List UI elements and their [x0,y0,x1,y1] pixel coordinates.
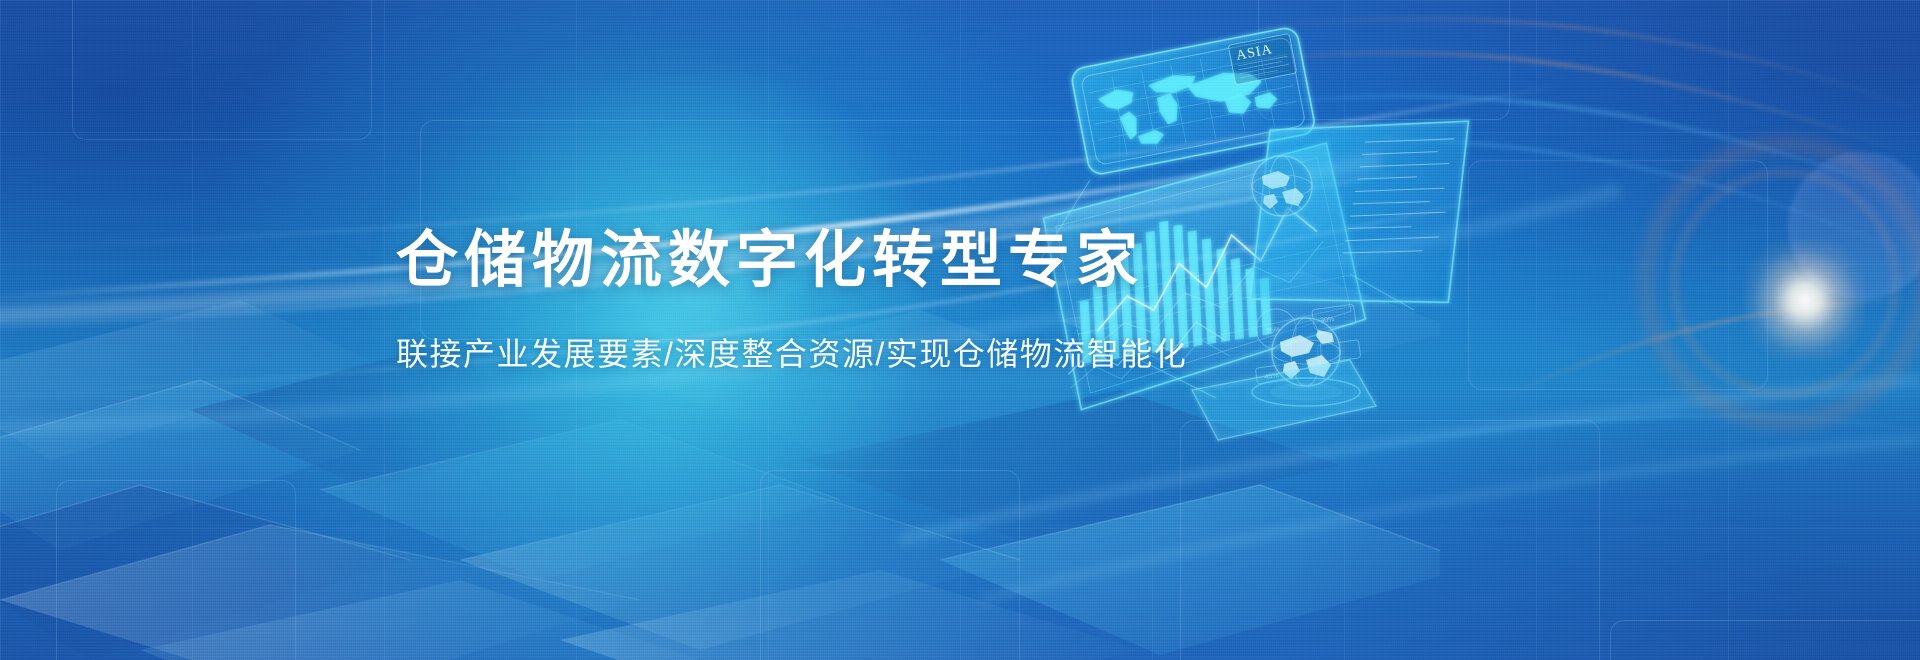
decorative-rounded-rect-7 [1610,620,1920,660]
hero-banner: ASIA [0,0,1920,660]
flare-core [1745,240,1865,360]
hud-donut-label-2: 30% [1320,316,1335,325]
decorative-rounded-rect-4 [1468,160,1768,390]
decorative-rounded-rect-5 [56,480,296,660]
hero-subheadline: 联接产业发展要素/深度整合资源/实现仓储物流智能化 [396,337,1196,372]
flare-ring-inner [1672,170,1898,396]
decorative-rounded-rect-8 [760,470,1020,660]
flare-ring-outer [1640,138,1920,428]
lens-flare [1620,130,1920,460]
flare-orb [1788,152,1920,300]
hud-platform-plate [1192,360,1376,440]
hero-text-block: 仓储物流数字化转型专家 联接产业发展要素/深度整合资源/实现仓储物流智能化 [396,228,1196,372]
decorative-rounded-rect-2 [1258,0,1510,120]
hud-donut-label-1: 25% [1266,327,1281,336]
hud-donut-label-3: 45% [1264,372,1279,381]
decorative-rounded-rect-1 [72,0,372,140]
decorative-rounded-rect-6 [1180,420,1600,660]
hero-headline: 仓储物流数字化转型专家 [396,228,1196,295]
hud-data-text-panel [1249,109,1469,323]
hud-world-map-panel: ASIA [1070,26,1316,176]
hud-globe-lower [1252,318,1360,406]
hud-globe-upper [1252,156,1312,216]
hud-asia-label: ASIA [1235,42,1274,64]
